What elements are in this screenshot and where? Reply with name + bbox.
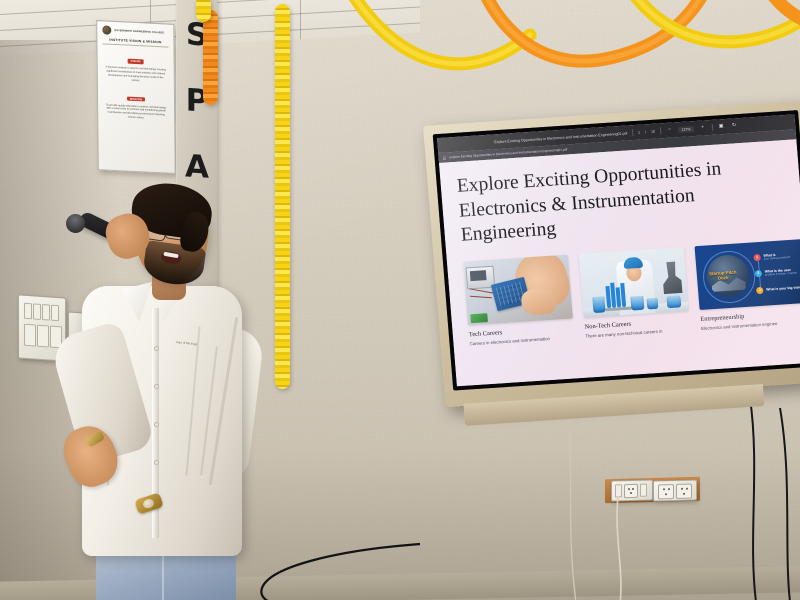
toolbar-divider-2	[660, 127, 661, 134]
slide-title: Explore Exciting Opportunities in Electr…	[456, 155, 761, 248]
fit-page-icon[interactable]: ▣	[717, 122, 726, 131]
hanging-cable-2	[612, 496, 672, 600]
marigold-garland-vertical-1	[203, 10, 218, 105]
shirt-button-4	[154, 460, 159, 465]
page-current[interactable]: 1	[638, 130, 640, 134]
card-non-tech-careers: Non-Tech Careers There are many non-tech…	[579, 247, 691, 340]
card-entrepreneurship: Startup Pitch Deck 1 What is your startu…	[694, 238, 800, 332]
poster-mission-label: MISSION	[127, 96, 145, 101]
presentation-slide: Explore Exciting Opportunities in Electr…	[439, 139, 800, 386]
minus-icon[interactable]: −	[665, 126, 674, 135]
shirt-button-2	[154, 384, 159, 389]
photo-scene: GOVERNMENT ENGINEERING COLLEGE INSTITUTE…	[0, 0, 800, 600]
tv-bezel: Explore Exciting Opportunities in Electr…	[433, 110, 800, 390]
slide-card-row: Tech Careers Careers in electronics and …	[463, 240, 795, 348]
poster-vision-body: A front-line institute in science and te…	[103, 65, 169, 84]
infographic-title: Startup Pitch Deck	[708, 269, 739, 282]
poster-mission-body: To provide quality education in science …	[103, 103, 169, 122]
poster-section-vision: VISION A front-line institute in science…	[102, 47, 168, 84]
poster-section-mission: MISSION To provide quality education in …	[103, 85, 169, 122]
bullet-marker-2: 2	[755, 270, 763, 277]
tech-careers-image	[463, 254, 573, 325]
bullet-marker-3: 3	[756, 286, 764, 293]
poster-title: INSTITUTE VISION & MISSION	[102, 37, 168, 47]
plus-icon[interactable]: +	[698, 124, 707, 133]
bullet-marker-1: 1	[753, 254, 761, 261]
toolbar-divider	[632, 129, 633, 136]
poster-vision-label: VISION	[128, 59, 144, 64]
institute-seal-icon	[102, 25, 111, 34]
bullet-sub-2: problem it solves / market	[765, 271, 797, 277]
card-tech-careers: Tech Careers Careers in electronics and …	[463, 254, 575, 347]
shirt-button-1	[154, 346, 159, 351]
tv-screen[interactable]: Explore Exciting Opportunities in Electr…	[437, 114, 800, 386]
page-total: 10	[651, 129, 655, 133]
entrepreneurship-image: Startup Pitch Deck 1 What is your startu…	[694, 238, 800, 310]
non-tech-careers-image	[579, 247, 689, 318]
hanging-cable-3	[740, 398, 800, 600]
wall-mounted-display[interactable]: Explore Exciting Opportunities in Electr…	[423, 100, 800, 407]
shirt-button-3	[154, 422, 159, 427]
institute-vision-poster: GOVERNMENT ENGINEERING COLLEGE INSTITUTE…	[96, 20, 176, 174]
page-separator: /	[645, 130, 646, 134]
rotate-icon[interactable]: ↻	[730, 122, 739, 131]
toolbar-divider-3	[711, 124, 712, 131]
presenter: Dept. of E&I Engg.	[60, 178, 290, 600]
poster-header: GOVERNMENT ENGINEERING COLLEGE	[102, 25, 168, 37]
zoom-level[interactable]: 127%	[678, 126, 694, 133]
hamburger-menu-icon[interactable]: ☰	[442, 155, 446, 160]
poster-org-name: GOVERNMENT ENGINEERING COLLEGE	[114, 29, 164, 34]
bullet-sub-1: your startup product?	[764, 256, 791, 261]
bullet-title-3: What is your big vision?	[766, 285, 800, 292]
marigold-garland-vertical-3	[196, 0, 211, 22]
